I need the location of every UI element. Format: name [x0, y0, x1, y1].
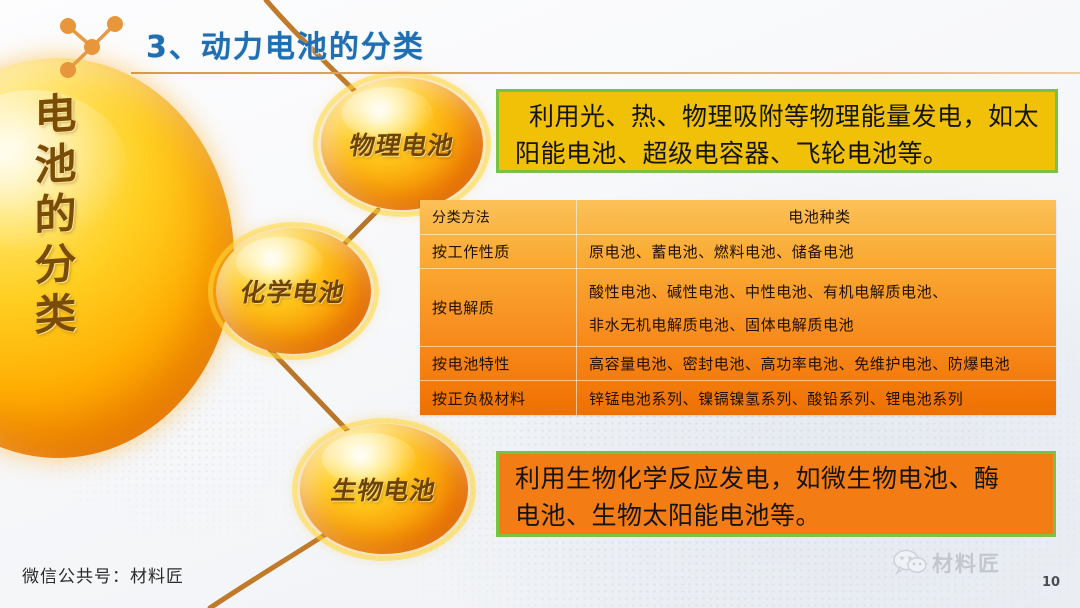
- table-cell-kinds: 酸性电池、碱性电池、中性电池、有机电解质电池、 非水无机电解质电池、固体电解质电…: [577, 269, 1057, 346]
- table-cell-method: 按正负极材料: [420, 381, 577, 415]
- battery-classification-table: 分类方法 电池种类 按工作性质 原电池、蓄电池、燃料电池、储备电池 按电解质 酸…: [420, 200, 1056, 415]
- table-row: 按电池特性 高容量电池、密封电池、高功率电池、免维护电池、防爆电池: [420, 346, 1056, 380]
- table-row: 按电解质 酸性电池、碱性电池、中性电池、有机电解质电池、 非水无机电解质电池、固…: [420, 269, 1056, 346]
- callout-bio-line-2: 电池、生物太阳能电池等。: [515, 498, 1041, 535]
- table-row: 按工作性质 原电池、蓄电池、燃料电池、储备电池: [420, 234, 1056, 268]
- callout-bio-battery: 利用生物化学反应发电，如微生物电池、酶 电池、生物太阳能电池等。: [496, 451, 1056, 537]
- bubble-bio-battery[interactable]: 生物电池: [300, 424, 468, 554]
- table-cell-kinds-line-2: 非水无机电解质电池、固体电解质电池: [589, 314, 1050, 335]
- table-cell-method: 按电池特性: [420, 346, 577, 380]
- table-header-row: 分类方法 电池种类: [420, 200, 1056, 234]
- callout-bio-line-1: 利用生物化学反应发电，如微生物电池、酶: [515, 466, 1000, 493]
- brand-watermark: 材料匠: [893, 548, 1001, 578]
- table-header-kinds: 电池种类: [577, 200, 1057, 234]
- table-cell-kinds: 锌锰电池系列、镍镉镍氢系列、酸铅系列、锂电池系列: [577, 381, 1057, 415]
- table-header-method: 分类方法: [420, 200, 577, 234]
- wechat-icon: [893, 550, 927, 576]
- title-underline-rule: [131, 72, 1080, 74]
- page-title: 3、动力电池的分类: [146, 22, 425, 66]
- bubble-physical-battery-label: 物理电池: [347, 126, 457, 162]
- callout-physical-battery: 利用光、热、物理吸附等物理能量发电，如太阳能电池、超级电容器、飞轮电池等。: [496, 89, 1058, 173]
- bubble-bio-battery-label: 生物电池: [329, 471, 439, 507]
- page-number: 10: [1042, 575, 1060, 590]
- table-cell-method: 按工作性质: [420, 234, 577, 268]
- table-cell-method: 按电解质: [420, 269, 577, 346]
- bubble-physical-battery[interactable]: 物理电池: [321, 78, 483, 210]
- network-nodes-icon: [55, 14, 125, 80]
- wechat-public-account-note: 微信公共号：材料匠: [22, 562, 184, 587]
- table-cell-kinds: 高容量电池、密封电池、高功率电池、免维护电池、防爆电池: [577, 346, 1057, 380]
- brand-name: 材料匠: [932, 548, 1001, 578]
- table-cell-kinds-line-1: 酸性电池、碱性电池、中性电池、有机电解质电池、: [589, 285, 948, 301]
- table-cell-kinds: 原电池、蓄电池、燃料电池、储备电池: [577, 234, 1057, 268]
- main-sphere-label: 电池的分类: [22, 90, 83, 344]
- slide-canvas: 3、动力电池的分类 电池的分类 物理电池 化学电池 生物电池 利用光、热、物理吸…: [0, 0, 1080, 608]
- bubble-chemical-battery[interactable]: 化学电池: [216, 228, 371, 354]
- bubble-chemical-battery-label: 化学电池: [238, 273, 348, 309]
- table-row: 按正负极材料 锌锰电池系列、镍镉镍氢系列、酸铅系列、锂电池系列: [420, 381, 1056, 415]
